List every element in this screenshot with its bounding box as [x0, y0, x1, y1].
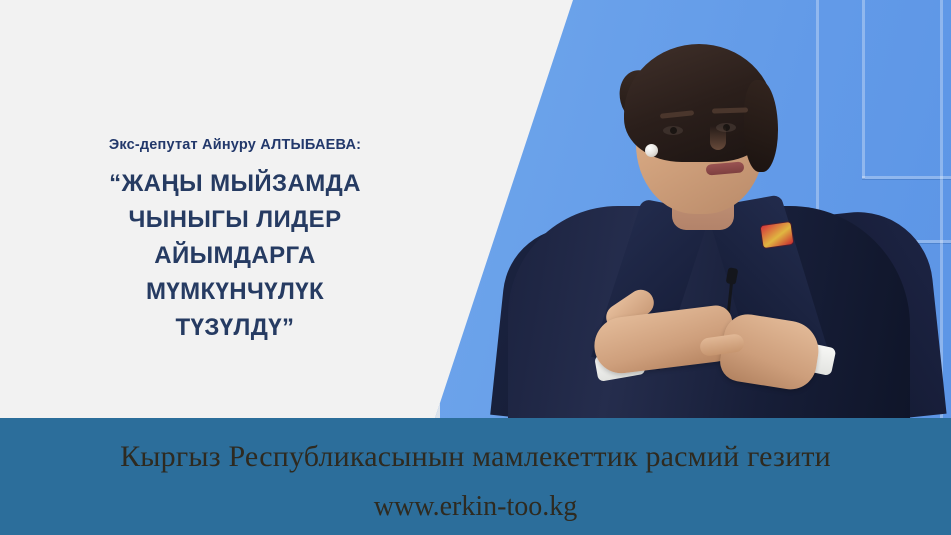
news-poster: Экс-депутат Айнуру АЛТЫБАЕВА: “ЖАҢЫ МЫЙЗ…	[0, 0, 951, 535]
banner-title: Кыргыз Республикасынын мамлекеттик расми…	[0, 440, 951, 474]
hair-side-strand	[744, 80, 778, 172]
quote-headline: “ЖАҢЫ МЫЙЗАМДА ЧЫНЫГЫ ЛИДЕР АЙЫМДАРГА МҮ…	[0, 166, 470, 346]
banner-website-url[interactable]: www.erkin-too.kg	[0, 491, 951, 523]
quote-line-2: ЧЫНЫГЫ ЛИДЕР	[0, 202, 470, 238]
flag-lapel-pin	[761, 222, 794, 248]
bottom-banner: Кыргыз Республикасынын мамлекеттик расми…	[0, 418, 951, 535]
quote-line-3: АЙЫМДАРГА	[0, 238, 470, 274]
eye-left	[663, 126, 683, 135]
quote-line-4: МҮМКҮНЧҮЛҮК	[0, 274, 470, 310]
quote-line-5: ТҮЗҮЛДҮ”	[0, 310, 470, 346]
quote-line-1: “ЖАҢЫ МЫЙЗАМДА	[0, 166, 470, 202]
nose	[710, 126, 726, 150]
headline-panel: Экс-депутат Айнуру АЛТЫБАЕВА: “ЖАҢЫ МЫЙЗ…	[0, 0, 470, 418]
pearl-earring	[645, 144, 658, 157]
kicker-text: Экс-депутат Айнуру АЛТЫБАЕВА:	[0, 137, 470, 153]
